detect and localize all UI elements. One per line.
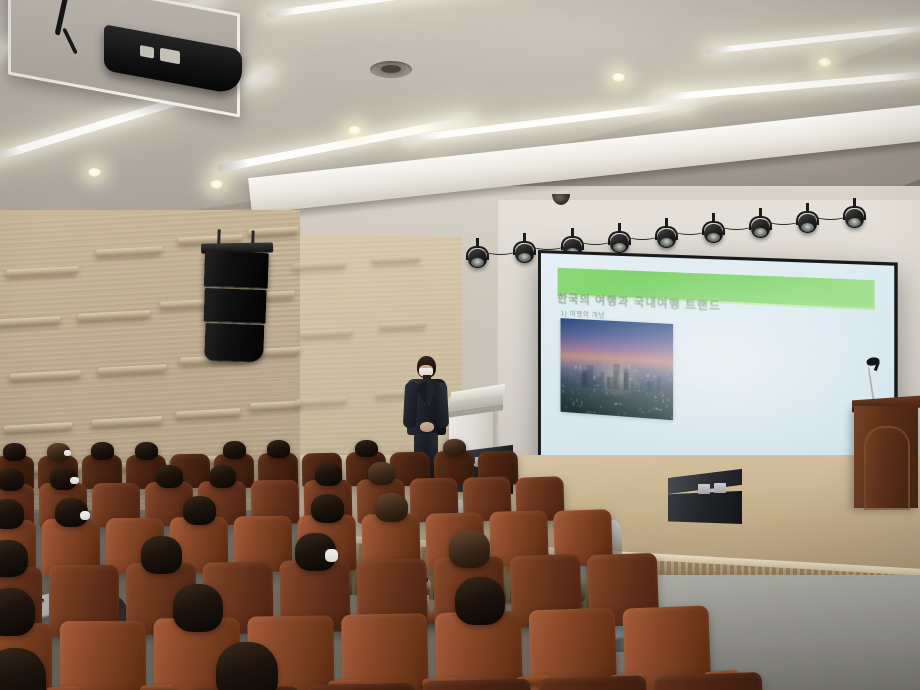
city-light-dot	[650, 410, 651, 412]
downlight-icon	[88, 168, 101, 177]
city-light-dot	[656, 407, 659, 409]
city-light-dot	[581, 401, 582, 405]
city-light-dot	[666, 373, 667, 375]
city-light-dot	[574, 365, 577, 368]
presenter-hands	[420, 422, 434, 432]
city-light-dot	[572, 402, 574, 406]
city-light-dot	[572, 391, 573, 395]
audience-member-head	[216, 642, 279, 690]
audience-member-head	[455, 577, 505, 625]
downlight-icon	[210, 180, 223, 189]
slide-photo-cityscape	[560, 319, 673, 421]
city-light-dot	[641, 412, 644, 413]
auditorium-seat[interactable]	[341, 613, 429, 690]
city-light-dot	[670, 367, 672, 370]
city-building	[631, 382, 634, 391]
auditorium-photo: 한국의 여행과 국내여행 트랜드 1) 여행의 개념	[0, 0, 920, 690]
audience-member-head	[368, 462, 396, 485]
city-light-dot	[576, 399, 577, 402]
city-light-dot	[579, 405, 581, 408]
city-light-dot	[590, 395, 592, 396]
city-light-dot	[633, 369, 636, 371]
security-camera-icon	[552, 190, 570, 205]
city-light-dot	[648, 410, 649, 413]
face-mask-icon	[70, 477, 78, 485]
audience-member-head	[3, 443, 26, 461]
city-light-dot	[585, 411, 588, 413]
city-building	[647, 381, 653, 392]
city-light-dot	[654, 396, 656, 399]
city-light-dot	[659, 409, 661, 411]
audience-member-head	[91, 442, 114, 460]
presenter-arm-left	[403, 382, 418, 429]
auditorium-seat[interactable]	[538, 676, 650, 690]
light-lens	[613, 243, 626, 252]
city-light-dot	[648, 392, 649, 395]
city-lights	[560, 319, 673, 325]
city-light-dot	[671, 416, 673, 419]
city-light-dot	[670, 379, 672, 382]
audience-member-head	[443, 439, 466, 457]
light-lens	[471, 258, 484, 267]
seat-armrest	[46, 687, 81, 690]
city-building	[657, 378, 661, 392]
auditorium-seat[interactable]	[422, 679, 533, 690]
audience-seating	[0, 440, 920, 690]
audience-member-head	[183, 496, 217, 525]
downlight-icon	[348, 126, 361, 135]
audience-member-head	[156, 465, 184, 488]
audience-member-head	[311, 494, 345, 523]
city-light-dot	[638, 385, 639, 387]
stage-par-light-icon	[843, 203, 866, 230]
city-light-dot	[601, 405, 602, 407]
city-light-dot	[641, 402, 643, 403]
light-lens	[801, 223, 814, 232]
audience-member-head	[135, 442, 158, 460]
city-light-dot	[662, 394, 664, 398]
city-light-dot	[578, 392, 580, 393]
audience-member-head	[173, 584, 223, 632]
city-building	[582, 374, 586, 387]
slide-subtitle: 1) 여행의 개념	[560, 307, 605, 319]
light-lens	[660, 238, 673, 247]
audience-member-head	[375, 493, 409, 522]
city-light-dot	[666, 405, 668, 407]
city-light-dot	[638, 390, 639, 392]
line-array-speaker	[201, 251, 269, 365]
projector-vent	[140, 45, 154, 59]
city-light-dot	[640, 374, 641, 377]
city-building	[587, 365, 593, 388]
city-light-dot	[656, 366, 658, 368]
audience-member-head	[141, 536, 182, 573]
speaker-module	[203, 288, 266, 324]
city-light-dot	[614, 405, 616, 406]
presenter-arm-right	[434, 382, 449, 429]
city-building	[606, 377, 613, 390]
auditorium-seat[interactable]	[60, 620, 146, 690]
speaker-module	[204, 323, 264, 363]
audience-member-head	[315, 463, 343, 486]
city-light-dot	[588, 411, 591, 414]
audience-member-head	[0, 499, 24, 528]
city-light-dot	[655, 400, 658, 401]
city-building	[624, 371, 626, 391]
projector-vent	[160, 48, 180, 65]
downlight-icon	[612, 73, 625, 82]
city-light-dot	[593, 412, 596, 413]
city-light-dot	[628, 365, 630, 367]
city-light-dot	[618, 413, 619, 417]
city-light-dot	[565, 406, 567, 408]
city-light-dot	[562, 389, 565, 392]
city-light-dot	[649, 374, 652, 376]
city-light-dot	[610, 362, 611, 366]
city-light-dot	[613, 392, 614, 394]
audience-member-head	[223, 441, 246, 459]
light-lens	[707, 233, 720, 242]
light-lens	[848, 218, 861, 227]
ceiling-diffuser-icon	[370, 61, 412, 78]
city-light-dot	[579, 388, 580, 390]
city-light-dot	[579, 366, 580, 367]
city-light-dot	[667, 398, 670, 401]
face-mask-icon	[325, 549, 337, 562]
city-building	[594, 380, 596, 388]
city-light-dot	[605, 391, 608, 395]
city-light-dot	[614, 394, 616, 395]
city-light-dot	[629, 378, 632, 380]
audience-member-head	[0, 588, 35, 636]
city-light-dot	[663, 399, 664, 403]
light-lens	[518, 253, 531, 262]
face-mask-icon	[80, 511, 90, 521]
speaker-module	[204, 251, 269, 289]
camera-dome	[552, 194, 570, 205]
audience-member-head	[267, 440, 290, 458]
audience-member-head	[449, 530, 490, 567]
audience-member-head	[355, 440, 378, 458]
city-light-dot	[569, 373, 572, 376]
city-building	[600, 372, 604, 388]
city-light-dot	[639, 408, 641, 411]
city-light-dot	[603, 361, 605, 363]
city-light-dot	[570, 397, 572, 400]
city-light-dot	[566, 360, 569, 362]
face-mask-icon	[64, 450, 71, 456]
city-light-dot	[624, 412, 626, 415]
audience-member-head	[209, 465, 237, 488]
city-light-dot	[594, 389, 597, 390]
city-light-dot	[561, 384, 564, 386]
auditorium-seat[interactable]	[654, 672, 767, 690]
city-light-dot	[578, 381, 579, 383]
downlight-icon	[818, 58, 831, 67]
auditorium-seat[interactable]	[307, 683, 417, 690]
city-light-dot	[615, 402, 618, 404]
light-lens	[754, 228, 767, 237]
city-light-dot	[653, 407, 655, 410]
city-building	[613, 371, 617, 390]
city-light-dot	[626, 395, 627, 398]
city-light-dot	[653, 374, 655, 378]
audience-member-head	[0, 468, 24, 491]
city-light-dot	[619, 403, 622, 405]
